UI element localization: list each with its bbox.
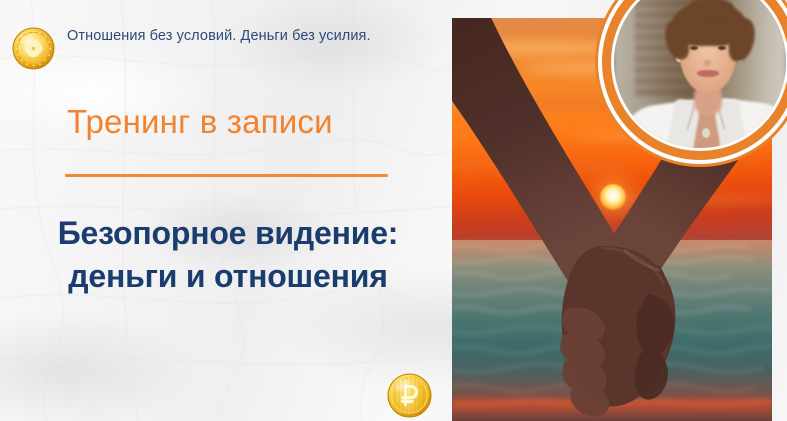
- page-title: Безопорное видение: деньги и отношения: [8, 212, 448, 298]
- title-line-2: деньги и отношения: [8, 255, 448, 298]
- title-line-1: Безопорное видение:: [8, 212, 448, 255]
- presenter-portrait: [595, 0, 787, 167]
- presenter-photo: [614, 0, 786, 148]
- orange-divider: [65, 174, 388, 177]
- tagline: Отношения без условий. Деньги без усилия…: [67, 28, 371, 44]
- gold-ruble-coin-icon: [387, 373, 432, 418]
- kicker-label: Тренинг в записи: [67, 103, 333, 141]
- gold-clover-coin-icon: [12, 27, 55, 70]
- promo-slide: Отношения без условий. Деньги без усилия…: [0, 0, 787, 421]
